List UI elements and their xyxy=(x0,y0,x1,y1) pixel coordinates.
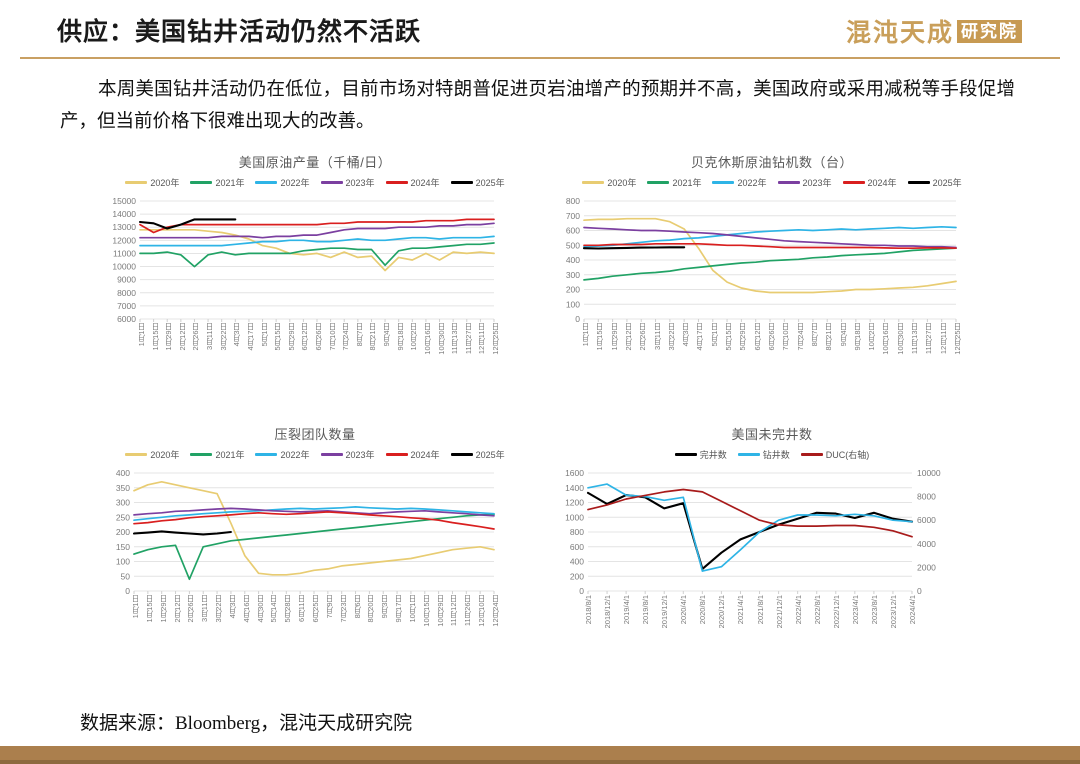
x-tick-label: 4月3日 xyxy=(231,323,242,346)
logo-seal: 研究院 xyxy=(957,20,1022,43)
legend-label: 2022年 xyxy=(737,176,766,189)
x-tick-label: 2020/4/1 xyxy=(679,595,688,624)
legend-item[interactable]: 2022年 xyxy=(255,176,309,189)
legend-item[interactable]: DUC(右轴) xyxy=(801,448,870,461)
x-tick-label: 9月18日 xyxy=(852,323,863,351)
x-tick-label: 2023/4/1 xyxy=(851,595,860,624)
x-tick-label: 2024/4/1 xyxy=(908,595,917,624)
x-tick-label: 10月29日 xyxy=(435,595,446,627)
legend-item[interactable]: 2022年 xyxy=(255,448,309,461)
svg-text:250: 250 xyxy=(116,512,130,522)
x-tick-label: 7月24日 xyxy=(340,323,351,351)
x-tick-label: 10月16日 xyxy=(880,323,891,355)
x-tick-label: 2021/12/1 xyxy=(775,595,784,628)
source-note: 数据来源：Bloomberg，混沌天成研究院 xyxy=(80,708,412,735)
x-tick-label: 8月6日 xyxy=(352,595,363,618)
logo-wordmark: 混沌天成 xyxy=(846,13,954,49)
x-tick-label: 12月25日 xyxy=(490,323,501,355)
legend-item[interactable]: 钻井数 xyxy=(738,448,790,461)
x-tick-label: 12月11日 xyxy=(938,323,949,354)
x-tick-label: 5月14日 xyxy=(268,595,279,623)
svg-text:7000: 7000 xyxy=(117,301,136,311)
slide: 供应：美国钻井活动仍然不活跃 混沌天成 研究院 本周美国钻井活动仍在低位，目前市… xyxy=(0,0,1080,764)
x-tick-label: 11月26日 xyxy=(462,595,473,626)
legend-label: 2020年 xyxy=(150,176,179,189)
x-tick-label: 8月20日 xyxy=(365,595,376,623)
x-tick-label: 2月26日 xyxy=(190,323,201,351)
x-tick-label: 6月26日 xyxy=(313,323,324,351)
legend-item[interactable]: 2024年 xyxy=(386,176,440,189)
legend-item[interactable]: 2025年 xyxy=(451,448,505,461)
chart-legend: 2020年2021年2022年2023年2024年2025年 xyxy=(100,176,530,189)
svg-text:10000: 10000 xyxy=(112,262,136,272)
svg-text:6000: 6000 xyxy=(917,515,936,525)
legend-item[interactable]: 2020年 xyxy=(582,176,636,189)
x-tick-label: 4月17日 xyxy=(245,323,256,351)
svg-text:6000: 6000 xyxy=(117,314,136,323)
x-tick-label: 6月11日 xyxy=(296,595,307,622)
svg-text:4000: 4000 xyxy=(917,539,936,549)
x-tick-label: 8月7日 xyxy=(809,323,820,346)
svg-text:600: 600 xyxy=(566,226,580,236)
chart-us-duc-wells: 美国未完井数完井数钻井数DUC(右轴)020040060080010001200… xyxy=(552,424,992,647)
footer-bar-accent xyxy=(0,760,1080,764)
legend-item[interactable]: 2023年 xyxy=(778,176,832,189)
legend-label: 完井数 xyxy=(700,448,727,461)
legend-swatch xyxy=(190,453,212,456)
svg-text:100: 100 xyxy=(116,557,130,567)
x-tick-label: 2023/12/1 xyxy=(889,595,898,628)
legend-label: 2023年 xyxy=(346,176,375,189)
legend-item[interactable]: 2024年 xyxy=(843,176,897,189)
x-tick-label: 2018/8/1 xyxy=(584,595,593,624)
svg-text:14000: 14000 xyxy=(112,209,136,219)
x-tick-label: 2月12日 xyxy=(177,323,188,351)
svg-text:13000: 13000 xyxy=(112,222,136,232)
x-tick-label: 12月24日 xyxy=(490,595,501,627)
legend-swatch xyxy=(386,181,408,184)
legend-label: 2021年 xyxy=(215,176,244,189)
legend-swatch xyxy=(801,453,823,456)
x-tick-label: 3月22日 xyxy=(218,323,229,351)
svg-text:600: 600 xyxy=(570,542,584,552)
svg-text:1000: 1000 xyxy=(565,512,584,522)
legend-swatch xyxy=(778,181,800,184)
svg-text:200: 200 xyxy=(116,527,130,537)
x-tick-label: 1月1日 xyxy=(580,323,591,346)
x-tick-label: 9月4日 xyxy=(838,323,849,346)
plot-area: 6000700080009000100001100012000130001400… xyxy=(100,195,530,323)
svg-text:350: 350 xyxy=(116,483,130,493)
x-tick-label: 2月12日 xyxy=(623,323,634,351)
chart-baker-hughes-oil-rigs: 贝克休斯原油钻机数（台）2020年2021年2022年2023年2024年202… xyxy=(552,152,992,375)
legend-swatch xyxy=(321,181,343,184)
x-tick-label: 12月25日 xyxy=(952,323,963,355)
legend-swatch xyxy=(843,181,865,184)
legend-label: 2022年 xyxy=(280,448,309,461)
x-tick-label: 8月21日 xyxy=(823,323,834,351)
svg-text:300: 300 xyxy=(566,270,580,280)
x-tick-label: 5月28日 xyxy=(282,595,293,623)
chart-title: 美国原油产量（千桶/日） xyxy=(100,152,530,171)
x-tick-label: 2019/12/1 xyxy=(660,595,669,628)
legend-swatch xyxy=(321,453,343,456)
legend-label: 2023年 xyxy=(346,448,375,461)
x-tick-label: 4月17日 xyxy=(694,323,705,351)
svg-text:1400: 1400 xyxy=(565,483,584,493)
x-tick-label: 9月17日 xyxy=(393,595,404,623)
legend-label: 2021年 xyxy=(215,448,244,461)
svg-text:0: 0 xyxy=(917,586,922,595)
x-tick-label: 3月22日 xyxy=(666,323,677,351)
series-line xyxy=(140,243,494,267)
x-tick-label: 2020/12/1 xyxy=(717,595,726,628)
svg-text:2000: 2000 xyxy=(917,562,936,572)
x-tick-label: 12月10日 xyxy=(476,595,487,627)
x-tick-label: 7月10日 xyxy=(780,323,791,351)
legend-item[interactable]: 完井数 xyxy=(675,448,727,461)
x-tick-label: 1月29日 xyxy=(158,595,169,623)
x-tick-label: 2月26日 xyxy=(185,595,196,623)
legend-label: 2024年 xyxy=(411,448,440,461)
x-tick-label: 3月11日 xyxy=(652,323,663,350)
x-tick-label: 2月26日 xyxy=(637,323,648,351)
x-tick-label: 2019/8/1 xyxy=(641,595,650,624)
x-tick-label: 2020/8/1 xyxy=(698,595,707,624)
x-tick-label: 4月3日 xyxy=(680,323,691,346)
footer-bar xyxy=(0,746,1080,764)
x-tick-label: 2018/12/1 xyxy=(603,595,612,628)
legend-label: 2020年 xyxy=(150,448,179,461)
legend-label: 2021年 xyxy=(672,176,701,189)
x-tick-label: 11月12日 xyxy=(448,595,459,626)
legend-item[interactable]: 2023年 xyxy=(321,448,375,461)
plot-area: 0100200300400500600700800 xyxy=(552,195,992,323)
x-tick-label: 5月1日 xyxy=(709,323,720,346)
legend-swatch xyxy=(451,181,473,184)
svg-text:12000: 12000 xyxy=(112,235,136,245)
x-tick-label: 2月12日 xyxy=(172,595,183,623)
chart-title: 压裂团队数量 xyxy=(100,424,530,443)
lead-paragraph: 本周美国钻井活动仍在低位，目前市场对特朗普促进页岩油增产的预期并不高，美国政府或… xyxy=(60,74,1015,138)
svg-text:400: 400 xyxy=(566,255,580,265)
legend-swatch xyxy=(125,181,147,184)
legend-item[interactable]: 2021年 xyxy=(190,176,244,189)
x-tick-label: 4月16日 xyxy=(241,595,252,623)
legend-label: 2025年 xyxy=(476,448,505,461)
chart-legend: 2020年2021年2022年2023年2024年2025年 xyxy=(100,448,530,461)
x-tick-label: 11月13日 xyxy=(449,323,460,354)
svg-text:8000: 8000 xyxy=(117,288,136,298)
x-tick-label: 2023/8/1 xyxy=(870,595,879,624)
legend-label: 2024年 xyxy=(868,176,897,189)
x-tick-label: 8月7日 xyxy=(354,323,365,346)
x-tick-label: 2022/8/1 xyxy=(813,595,822,624)
svg-text:500: 500 xyxy=(566,240,580,250)
x-tick-label: 10月1日 xyxy=(407,595,418,623)
legend-item[interactable]: 2021年 xyxy=(190,448,244,461)
x-tick-label: 10月2日 xyxy=(866,323,877,351)
chart-title: 贝克休斯原油钻机数（台） xyxy=(552,152,992,171)
legend-label: 钻井数 xyxy=(763,448,790,461)
page-title: 供应：美国钻井活动仍然不活跃 xyxy=(57,12,421,48)
x-axis-labels: 1月1日1月15日1月29日2月12日2月26日3月11日3月22日4月3日4月… xyxy=(100,595,530,647)
legend-swatch xyxy=(255,453,277,456)
legend-label: 2024年 xyxy=(411,176,440,189)
plot-area: 050100150200250300350400 xyxy=(100,467,530,595)
svg-text:1200: 1200 xyxy=(565,498,584,508)
chart-us-crude-production: 美国原油产量（千桶/日）2020年2021年2022年2023年2024年202… xyxy=(100,152,530,375)
series-line xyxy=(134,482,494,575)
svg-text:400: 400 xyxy=(116,468,130,478)
x-tick-label: 1月15日 xyxy=(144,595,155,623)
legend-label: 2020年 xyxy=(607,176,636,189)
x-tick-label: 5月1日 xyxy=(259,323,270,346)
legend-item[interactable]: 2023年 xyxy=(321,176,375,189)
chart-title: 美国未完井数 xyxy=(552,424,992,443)
svg-text:8000: 8000 xyxy=(917,492,936,502)
x-tick-label: 9月4日 xyxy=(381,323,392,346)
svg-text:300: 300 xyxy=(116,498,130,508)
x-tick-label: 10月16日 xyxy=(422,323,433,355)
x-axis-labels: 1月1日1月15日1月29日2月12日2月26日3月11日3月22日4月3日4月… xyxy=(100,323,530,375)
series-line xyxy=(584,247,684,248)
x-tick-label: 4月30日 xyxy=(255,595,266,623)
svg-text:150: 150 xyxy=(116,542,130,552)
series-line xyxy=(588,490,912,537)
chart-legend: 2020年2021年2022年2023年2024年2025年 xyxy=(552,176,992,189)
chart-legend: 完井数钻井数DUC(右轴) xyxy=(552,448,992,461)
x-tick-label: 9月18日 xyxy=(395,323,406,351)
legend-swatch xyxy=(386,453,408,456)
x-tick-label: 6月12日 xyxy=(752,323,763,351)
svg-text:700: 700 xyxy=(566,211,580,221)
svg-text:50: 50 xyxy=(121,571,131,581)
x-tick-label: 5月15日 xyxy=(723,323,734,351)
svg-text:800: 800 xyxy=(566,196,580,206)
x-tick-label: 7月24日 xyxy=(795,323,806,351)
svg-text:400: 400 xyxy=(570,557,584,567)
x-axis-labels: 1月1日1月15日1月29日2月12日2月26日3月11日3月22日4月3日4月… xyxy=(552,323,992,375)
header-divider xyxy=(20,57,1060,59)
legend-swatch xyxy=(712,181,734,184)
legend-label: 2023年 xyxy=(803,176,832,189)
legend-item[interactable]: 2025年 xyxy=(451,176,505,189)
x-tick-label: 6月25日 xyxy=(310,595,321,623)
legend-swatch xyxy=(738,453,760,456)
svg-text:800: 800 xyxy=(570,527,584,537)
svg-text:200: 200 xyxy=(566,285,580,295)
x-tick-label: 1月1日 xyxy=(136,323,147,346)
legend-swatch xyxy=(190,181,212,184)
legend-label: 2025年 xyxy=(933,176,962,189)
legend-item[interactable]: 2024年 xyxy=(386,448,440,461)
x-tick-label: 6月12日 xyxy=(299,323,310,351)
x-tick-label: 3月11日 xyxy=(199,595,210,622)
x-tick-label: 1月1日 xyxy=(130,595,141,618)
x-tick-label: 5月15日 xyxy=(272,323,283,351)
legend-swatch xyxy=(255,181,277,184)
legend-swatch xyxy=(125,453,147,456)
svg-text:200: 200 xyxy=(570,571,584,581)
svg-text:0: 0 xyxy=(575,314,580,323)
x-tick-label: 6月26日 xyxy=(766,323,777,351)
x-tick-label: 4月3日 xyxy=(227,595,238,618)
x-tick-label: 10月30日 xyxy=(436,323,447,355)
svg-text:10000: 10000 xyxy=(917,468,941,478)
legend-item[interactable]: 2022年 xyxy=(712,176,766,189)
x-tick-label: 7月9日 xyxy=(324,595,335,618)
x-tick-label: 2019/4/1 xyxy=(622,595,631,624)
x-tick-label: 1月29日 xyxy=(163,323,174,351)
x-tick-label: 10月2日 xyxy=(408,323,419,351)
plot-area: 0200400600800100012001400160002000400060… xyxy=(552,467,992,595)
legend-item[interactable]: 2025年 xyxy=(908,176,962,189)
x-tick-label: 10月15日 xyxy=(421,595,432,627)
x-tick-label: 5月29日 xyxy=(286,323,297,351)
series-line xyxy=(588,493,912,569)
legend-swatch xyxy=(582,181,604,184)
x-tick-label: 2021/4/1 xyxy=(736,595,745,624)
legend-swatch xyxy=(675,453,697,456)
company-logo: 混沌天成 研究院 xyxy=(846,13,1022,49)
chart-frac-crew-count: 压裂团队数量2020年2021年2022年2023年2024年2025年0501… xyxy=(100,424,530,647)
legend-label: DUC(右轴) xyxy=(826,448,870,461)
legend-item[interactable]: 2021年 xyxy=(647,176,701,189)
x-tick-label: 11月13日 xyxy=(909,323,920,354)
x-tick-label: 2021/8/1 xyxy=(756,595,765,624)
x-tick-label: 8月21日 xyxy=(367,323,378,351)
x-tick-label: 11月27日 xyxy=(923,323,934,354)
svg-text:100: 100 xyxy=(566,299,580,309)
x-tick-label: 10月30日 xyxy=(895,323,906,355)
x-tick-label: 1月29日 xyxy=(609,323,620,351)
x-tick-label: 1月15日 xyxy=(594,323,605,351)
legend-swatch xyxy=(451,453,473,456)
x-tick-label: 7月10日 xyxy=(327,323,338,351)
x-tick-label: 3月11日 xyxy=(204,323,215,350)
legend-label: 2025年 xyxy=(476,176,505,189)
x-tick-label: 12月11日 xyxy=(476,323,487,354)
legend-label: 2022年 xyxy=(280,176,309,189)
x-tick-label: 9月3日 xyxy=(379,595,390,618)
x-tick-label: 1月15日 xyxy=(150,323,161,351)
x-tick-label: 2022/12/1 xyxy=(832,595,841,628)
svg-text:0: 0 xyxy=(579,586,584,595)
svg-text:0: 0 xyxy=(125,586,130,595)
x-tick-label: 7月23日 xyxy=(338,595,349,623)
svg-text:1600: 1600 xyxy=(565,468,584,478)
x-tick-label: 5月29日 xyxy=(737,323,748,351)
svg-text:9000: 9000 xyxy=(117,275,136,285)
svg-text:11000: 11000 xyxy=(113,248,136,258)
slide-header: 供应：美国钻井活动仍然不活跃 混沌天成 研究院 xyxy=(0,0,1080,58)
x-tick-label: 11月27日 xyxy=(463,323,474,354)
x-tick-label: 3月22日 xyxy=(213,595,224,623)
legend-swatch xyxy=(908,181,930,184)
x-tick-label: 2022/4/1 xyxy=(794,595,803,624)
legend-item[interactable]: 2020年 xyxy=(125,448,179,461)
x-axis-labels: 2018/8/12018/12/12019/4/12019/8/12019/12… xyxy=(552,595,992,647)
legend-item[interactable]: 2020年 xyxy=(125,176,179,189)
svg-text:15000: 15000 xyxy=(112,196,136,206)
legend-swatch xyxy=(647,181,669,184)
